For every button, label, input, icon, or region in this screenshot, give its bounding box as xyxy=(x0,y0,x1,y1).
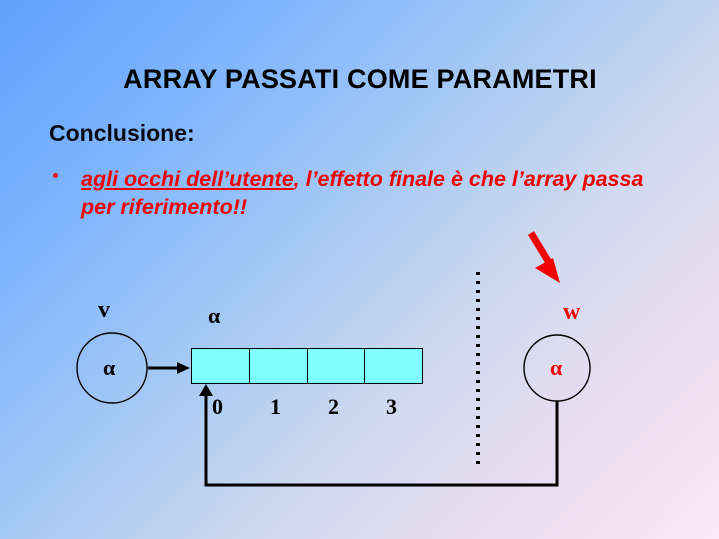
array-index-0: 0 xyxy=(212,396,223,418)
return-path-line xyxy=(206,390,557,485)
array-cell-0 xyxy=(192,349,250,383)
array-cell-3 xyxy=(365,349,422,383)
value-alpha-v: α xyxy=(103,357,115,379)
return-path-arrowhead xyxy=(199,384,213,396)
array-index-3: 3 xyxy=(386,396,397,418)
label-w: w xyxy=(563,300,580,324)
slide-canvas: ARRAY PASSATI COME PARAMETRI Conclusione… xyxy=(0,0,719,539)
array-index-1: 1 xyxy=(270,396,281,418)
array-cell-2 xyxy=(308,349,366,383)
label-alpha-array: α xyxy=(208,305,220,327)
red-arrow-head xyxy=(535,258,560,283)
array-index-2: 2 xyxy=(328,396,339,418)
arrow-v-head xyxy=(177,362,190,374)
memory-diagram xyxy=(0,0,719,539)
label-v: v xyxy=(98,298,110,322)
array-cells xyxy=(191,348,423,384)
value-alpha-w: α xyxy=(550,357,562,379)
red-emphasis-arrow xyxy=(531,233,560,283)
array-cell-1 xyxy=(250,349,308,383)
